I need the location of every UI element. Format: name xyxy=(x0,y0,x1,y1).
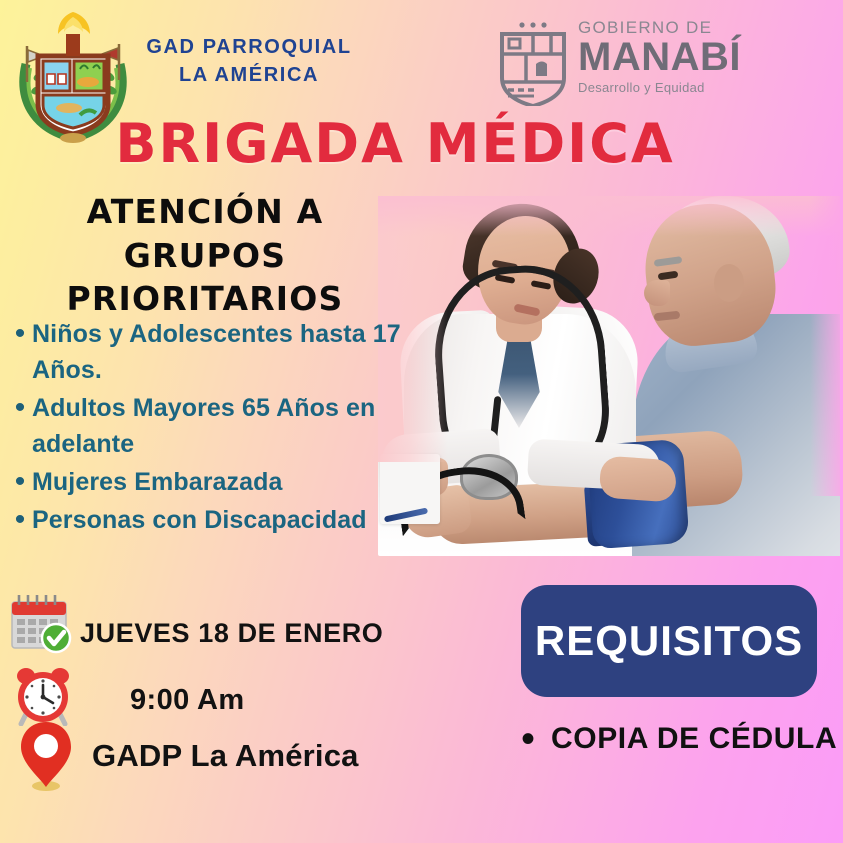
manabi-main-line: MANABÍ xyxy=(578,38,741,77)
manabi-tagline: Desarrollo y Equidad xyxy=(578,80,741,95)
org-line-1: GAD PARROQUIAL xyxy=(134,33,364,61)
event-time: 9:00 Am xyxy=(130,684,245,717)
poster-canvas: GAD PARROQUIAL LA AMÉRICA xyxy=(0,0,843,843)
page-subtitle: ATENCIÓN A GRUPOS PRIORITARIOS xyxy=(16,190,394,321)
patient-ear xyxy=(714,264,744,302)
list-item-label: Personas con Discapacidad xyxy=(32,502,367,538)
priority-groups-list: • Niños y Adolescentes hasta 17 Años. • … xyxy=(8,316,428,540)
requisitos-badge: REQUISITOS xyxy=(521,585,817,697)
patient-nose xyxy=(644,280,670,306)
alarm-clock-icon xyxy=(12,664,74,726)
requisitos-list-item: • COPIA DE CÉDULA xyxy=(505,722,843,756)
calendar-check-icon xyxy=(8,594,74,656)
list-item: • Niños y Adolescentes hasta 17 Años. xyxy=(8,316,428,388)
requisitos-item-label: COPIA DE CÉDULA xyxy=(551,722,837,756)
event-date: JUEVES 18 DE ENERO xyxy=(80,618,383,649)
event-place: GADP La América xyxy=(92,738,359,774)
bullet-icon: • xyxy=(8,502,32,538)
requisitos-label: REQUISITOS xyxy=(535,617,803,665)
manabi-shield-icon xyxy=(496,20,570,106)
manabi-logo: GOBIERNO DE MANABÍ Desarrollo y Equidad xyxy=(496,14,786,106)
map-pin-icon xyxy=(18,720,74,792)
org-line-2: LA AMÉRICA xyxy=(134,61,364,89)
photo-content xyxy=(378,196,840,556)
photo-fade-top xyxy=(378,196,840,236)
event-details: JUEVES 18 DE ENERO 9:00 Am GADP La Améri… xyxy=(0,592,400,802)
organization-name: GAD PARROQUIAL LA AMÉRICA xyxy=(134,33,364,90)
bullet-icon: • xyxy=(505,724,551,754)
list-item-label: Adultos Mayores 65 Años en adelante xyxy=(32,390,428,462)
list-item-label: Mujeres Embarazada xyxy=(32,464,283,500)
bullet-icon: • xyxy=(8,464,32,500)
page-title: BRIGADA MÉDICA xyxy=(0,112,790,175)
photo-fade-right xyxy=(810,196,840,496)
list-item-label: Niños y Adolescentes hasta 17 Años. xyxy=(32,316,428,388)
subtitle-line-2: PRIORITARIOS xyxy=(16,277,394,321)
manabi-wordmark: GOBIERNO DE MANABÍ Desarrollo y Equidad xyxy=(578,18,741,95)
list-item: • Adultos Mayores 65 Años en adelante xyxy=(8,390,428,462)
bullet-icon: • xyxy=(8,316,32,352)
medical-consultation-photo xyxy=(378,196,840,556)
bullet-icon: • xyxy=(8,390,32,426)
subtitle-line-1: ATENCIÓN A GRUPOS xyxy=(16,190,394,277)
doctor-hand-right xyxy=(599,455,678,502)
list-item: • Mujeres Embarazada xyxy=(8,464,428,500)
list-item: • Personas con Discapacidad xyxy=(8,502,428,538)
